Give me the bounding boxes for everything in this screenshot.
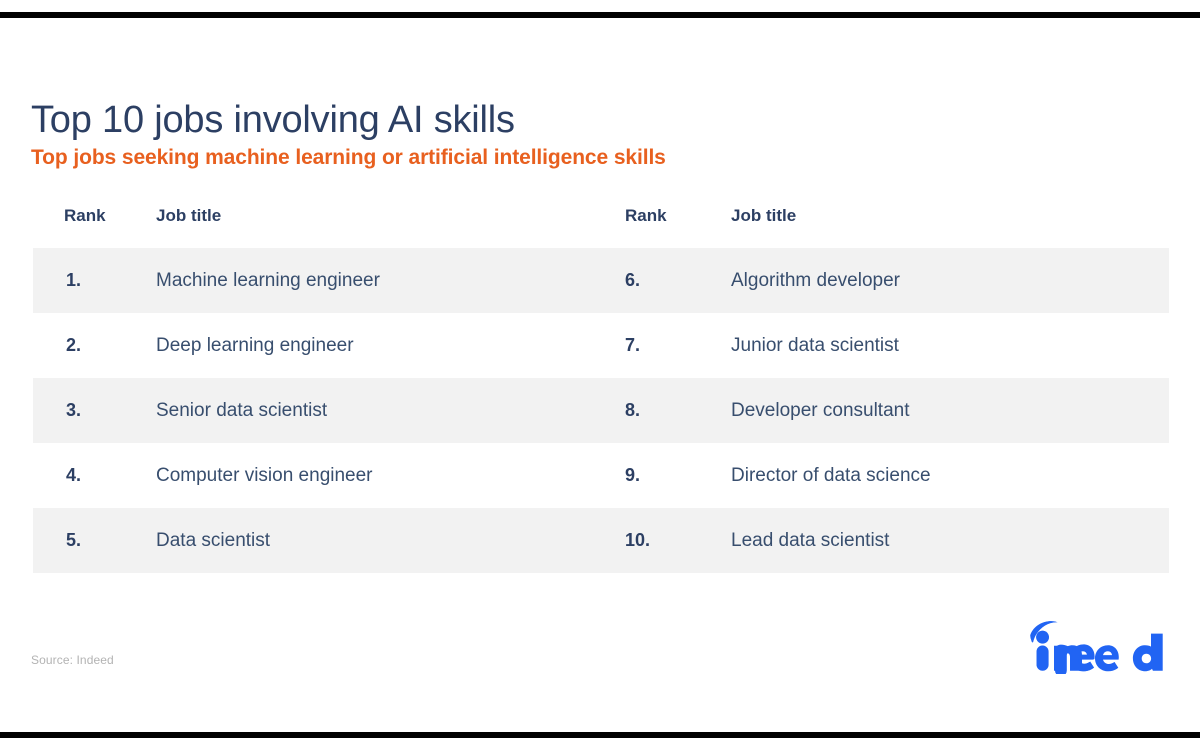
table-row: 4.Computer vision engineer9.Director of … bbox=[33, 443, 1169, 508]
infographic-page: Top 10 jobs involving AI skills Top jobs… bbox=[0, 0, 1200, 751]
column-header-title-right: Job title bbox=[731, 206, 796, 226]
column-header-rank-left: Rank bbox=[64, 206, 106, 226]
row-rank-left: 2. bbox=[66, 313, 81, 378]
row-rank-left: 4. bbox=[66, 443, 81, 508]
page-subtitle: Top jobs seeking machine learning or art… bbox=[31, 145, 666, 170]
indeed-logo[interactable] bbox=[1024, 618, 1174, 674]
table-row: 1.Machine learning engineer6.Algorithm d… bbox=[33, 248, 1169, 313]
row-rank-right: 10. bbox=[625, 508, 650, 573]
row-title-left: Machine learning engineer bbox=[156, 248, 380, 313]
jobs-table: Rank Job title Rank Job title 1.Machine … bbox=[33, 206, 1169, 573]
table-row: 3.Senior data scientist8.Developer consu… bbox=[33, 378, 1169, 443]
row-title-left: Senior data scientist bbox=[156, 378, 327, 443]
row-rank-right: 8. bbox=[625, 378, 640, 443]
source-note: Source: Indeed bbox=[31, 653, 114, 667]
table-header-row: Rank Job title Rank Job title bbox=[33, 206, 1169, 248]
row-title-left: Data scientist bbox=[156, 508, 270, 573]
top-rule bbox=[0, 12, 1200, 18]
bottom-rule bbox=[0, 732, 1200, 738]
row-title-right: Algorithm developer bbox=[731, 248, 900, 313]
row-title-left: Deep learning engineer bbox=[156, 313, 354, 378]
row-rank-right: 6. bbox=[625, 248, 640, 313]
table-row: 5.Data scientist10.Lead data scientist bbox=[33, 508, 1169, 573]
column-header-title-left: Job title bbox=[156, 206, 221, 226]
row-rank-left: 5. bbox=[66, 508, 81, 573]
table-row: 2.Deep learning engineer7.Junior data sc… bbox=[33, 313, 1169, 378]
row-title-right: Junior data scientist bbox=[731, 313, 899, 378]
page-title: Top 10 jobs involving AI skills bbox=[31, 99, 515, 143]
row-rank-left: 1. bbox=[66, 248, 81, 313]
row-title-right: Developer consultant bbox=[731, 378, 910, 443]
row-rank-right: 9. bbox=[625, 443, 640, 508]
column-header-rank-right: Rank bbox=[625, 206, 667, 226]
row-title-left: Computer vision engineer bbox=[156, 443, 373, 508]
row-rank-left: 3. bbox=[66, 378, 81, 443]
row-title-right: Director of data science bbox=[731, 443, 931, 508]
row-title-right: Lead data scientist bbox=[731, 508, 889, 573]
table-body: 1.Machine learning engineer6.Algorithm d… bbox=[33, 248, 1169, 573]
row-rank-right: 7. bbox=[625, 313, 640, 378]
